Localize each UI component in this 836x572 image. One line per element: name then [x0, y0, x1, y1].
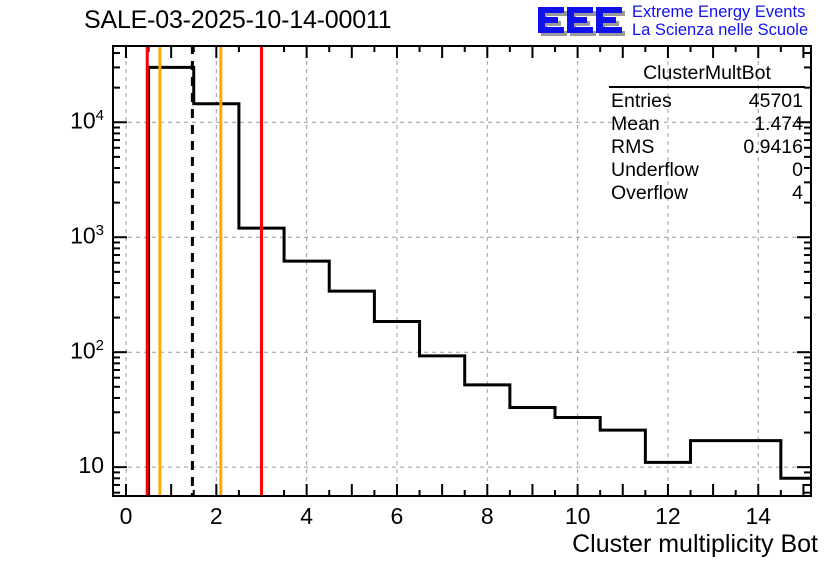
stats-row-value: 0.9416: [743, 136, 803, 159]
stats-row: Overflow4: [607, 182, 807, 205]
root-canvas: SALE-03-2025-10-14-00011: [0, 0, 836, 572]
x-tick-label: 14: [728, 503, 788, 530]
x-axis-title: Cluster multiplicity Bot: [572, 530, 818, 559]
y-tick-label: 103: [70, 222, 104, 250]
stats-row-label: Entries: [611, 90, 672, 113]
x-tick-label: 8: [457, 503, 517, 530]
stats-box: ClusterMultBot Entries45701Mean1.474RMS0…: [607, 62, 807, 205]
eee-logo-icon: [536, 3, 628, 39]
stats-row-value: 1.474: [754, 113, 803, 136]
x-tick-label: 4: [277, 503, 337, 530]
stats-row-label: Overflow: [611, 182, 688, 205]
stats-row: Mean1.474: [607, 113, 807, 136]
stats-row-value: 45701: [749, 90, 803, 113]
eee-logo-line1: Extreme Energy Events: [632, 3, 808, 21]
stats-row: RMS0.9416: [607, 136, 807, 159]
y-tick-label: 104: [70, 107, 104, 135]
stats-rows: Entries45701Mean1.474RMS0.9416Underflow0…: [607, 90, 807, 205]
stats-row-label: RMS: [611, 136, 654, 159]
stats-row-value: 4: [792, 182, 803, 205]
stats-row-label: Underflow: [611, 159, 699, 182]
x-tick-label: 6: [367, 503, 427, 530]
stats-row-value: 0: [792, 159, 803, 182]
eee-logo: Extreme Energy Events La Scienza nelle S…: [536, 2, 834, 42]
stats-title: ClusterMultBot: [609, 62, 805, 88]
stats-row: Underflow0: [607, 159, 807, 182]
y-tick-label: 102: [70, 337, 104, 365]
eee-logo-line2: La Scienza nelle Scuole: [632, 21, 808, 39]
x-tick-label: 2: [186, 503, 246, 530]
y-tick-label: 10: [78, 452, 104, 479]
x-tick-label: 12: [638, 503, 698, 530]
x-tick-label: 0: [96, 503, 156, 530]
stats-row-label: Mean: [611, 113, 660, 136]
stats-row: Entries45701: [607, 90, 807, 113]
eee-logo-text: Extreme Energy Events La Scienza nelle S…: [632, 3, 808, 39]
page-title: SALE-03-2025-10-14-00011: [84, 6, 391, 35]
x-tick-label: 10: [548, 503, 608, 530]
